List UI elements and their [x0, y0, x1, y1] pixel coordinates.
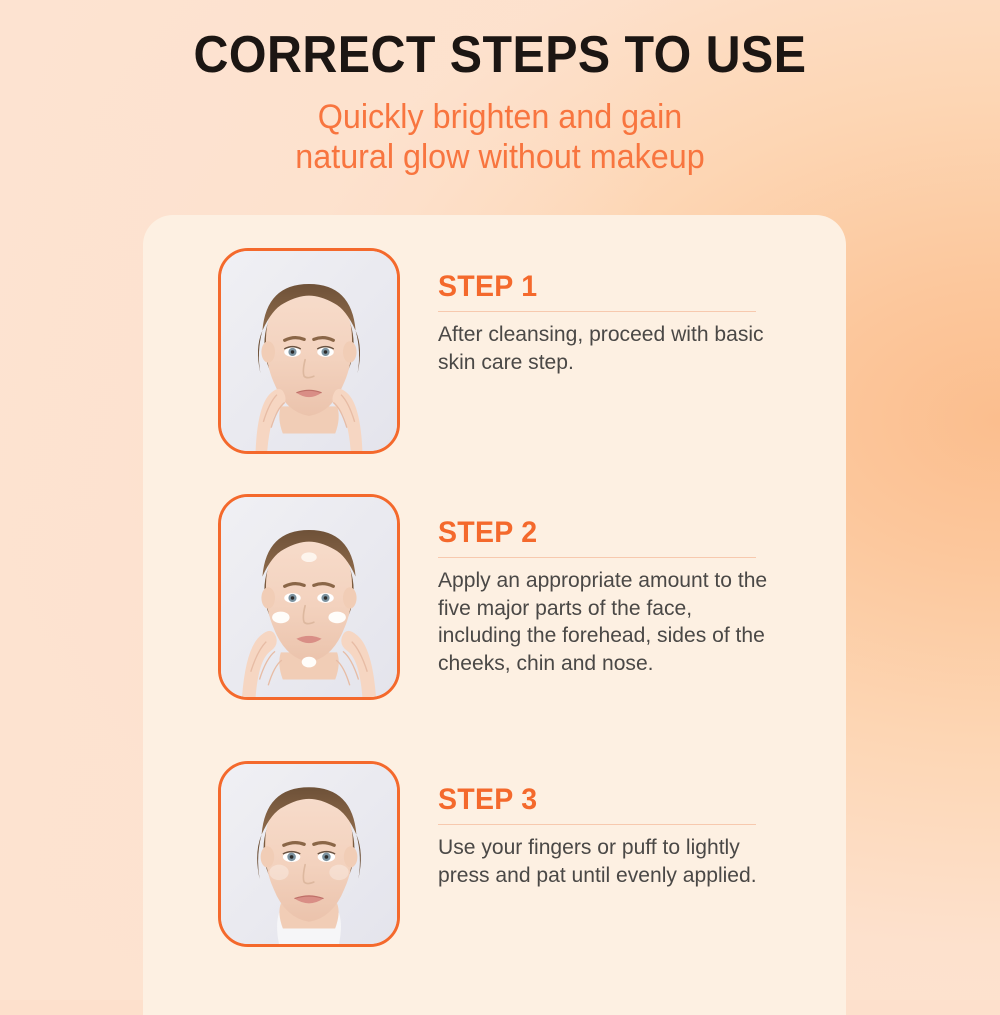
- step-3-title: STEP 3: [438, 785, 809, 815]
- woman-face-applied-icon: [221, 764, 397, 944]
- step-1-divider: [438, 311, 756, 312]
- header: CORRECT STEPS TO USE Quickly brighten an…: [0, 0, 1000, 177]
- page-title: CORRECT STEPS TO USE: [35, 29, 965, 81]
- step-1-title: STEP 1: [438, 272, 809, 302]
- steps-card: STEP 1 After cleansing, proceed with bas…: [143, 215, 846, 1015]
- step-row: STEP 2 Apply an appropriate amount to th…: [218, 494, 828, 700]
- step-3-divider: [438, 824, 756, 825]
- step-3-description: Use your fingers or puff to lightly pres…: [438, 834, 771, 889]
- step-2-description: Apply an appropriate amount to the five …: [438, 567, 771, 678]
- step-2-text: STEP 2 Apply an appropriate amount to th…: [438, 494, 828, 700]
- subtitle-line-2: natural glow without makeup: [25, 137, 975, 177]
- step-2-title: STEP 2: [438, 518, 809, 548]
- page-subtitle: Quickly brighten and gain natural glow w…: [25, 97, 975, 177]
- step-3-text: STEP 3 Use your fingers or puff to light…: [438, 761, 828, 947]
- woman-cream-dots-icon: [221, 497, 397, 697]
- step-1-description: After cleansing, proceed with basic skin…: [438, 321, 771, 376]
- subtitle-line-1: Quickly brighten and gain: [25, 97, 975, 137]
- step-row: STEP 1 After cleansing, proceed with bas…: [218, 248, 828, 454]
- step-2-photo: [218, 494, 400, 700]
- step-1-photo: [218, 248, 400, 454]
- step-3-photo: [218, 761, 400, 947]
- step-1-text: STEP 1 After cleansing, proceed with bas…: [438, 248, 828, 454]
- step-row: STEP 3 Use your fingers or puff to light…: [218, 761, 828, 947]
- woman-touching-cheeks-icon: [221, 251, 397, 451]
- step-2-divider: [438, 557, 756, 558]
